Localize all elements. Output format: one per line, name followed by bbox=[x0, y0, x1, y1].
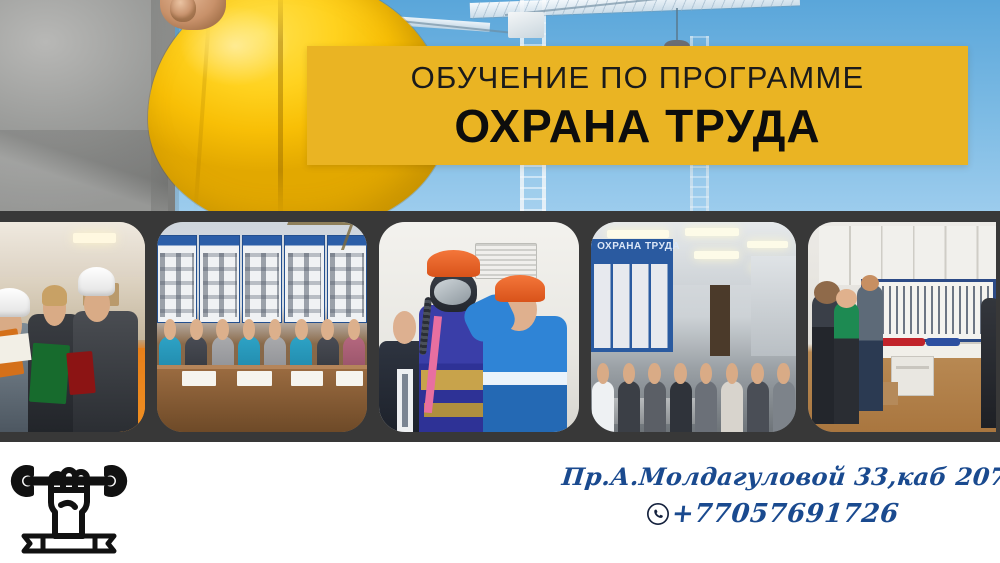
photo-strip: ОХРАНА ТРУДА bbox=[0, 211, 1000, 442]
worker-thumb bbox=[170, 0, 196, 22]
title-band: ОБУЧЕНИЕ ПО ПРОГРАММЕ ОХРАНА ТРУДА bbox=[307, 46, 968, 165]
crane-cabin-icon bbox=[508, 12, 544, 38]
phone-number: +77057691726 bbox=[670, 499, 900, 529]
photo-equipment-lab bbox=[808, 222, 996, 432]
photo-respirator-practice bbox=[379, 222, 579, 432]
hero-banner: ОБУЧЕНИЕ ПО ПРОГРАММЕ ОХРАНА ТРУДА bbox=[0, 0, 1000, 211]
white-hard-hat-icon bbox=[78, 267, 115, 296]
orange-hard-hat-icon bbox=[495, 275, 545, 302]
footer: Пр.А.Молдагуловой 33,каб 207 +7705769172… bbox=[0, 442, 1000, 563]
ceiling-pipe-icon bbox=[278, 222, 354, 250]
person-figure bbox=[834, 302, 858, 424]
photo-classroom-training bbox=[157, 222, 367, 432]
phone-row: +77057691726 bbox=[562, 499, 982, 529]
white-hard-hat-icon bbox=[0, 288, 30, 317]
banner-title: ОХРАНА ТРУДА bbox=[454, 103, 820, 149]
person-figure bbox=[857, 285, 883, 411]
photo-row: ОХРАНА ТРУДА bbox=[0, 222, 1000, 432]
document-white bbox=[0, 334, 31, 365]
photo-lecture-hall: ОХРАНА ТРУДА bbox=[591, 222, 796, 432]
ceiling-light-icon bbox=[73, 233, 115, 244]
document-folder-green bbox=[29, 343, 70, 404]
address-text: Пр.А.Молдагуловой 33,каб 207 bbox=[560, 462, 983, 491]
photo-workers-with-documents bbox=[0, 222, 145, 432]
banner-subtitle: ОБУЧЕНИЕ ПО ПРОГРАММЕ bbox=[411, 62, 865, 93]
trainee-assisting bbox=[483, 251, 567, 432]
person-figure bbox=[981, 298, 996, 428]
wall-posters bbox=[819, 226, 996, 285]
worker-figure bbox=[73, 260, 138, 432]
audience-row bbox=[591, 344, 796, 432]
poster: ОБУЧЕНИЕ ПО ПРОГРАММЕ ОХРАНА ТРУДА bbox=[0, 0, 1000, 563]
stand-title: ОХРАНА ТРУДА bbox=[597, 241, 782, 262]
fist-holding-wrench-logo bbox=[6, 450, 132, 554]
whatsapp-icon bbox=[646, 502, 670, 526]
orange-hard-hat-icon bbox=[427, 250, 480, 277]
hard-hat-ridge bbox=[278, 0, 283, 211]
shirt-fold bbox=[0, 130, 168, 211]
contact-block: Пр.А.Молдагуловой 33,каб 207 +7705769172… bbox=[562, 462, 982, 529]
document-folder-red bbox=[67, 351, 97, 395]
